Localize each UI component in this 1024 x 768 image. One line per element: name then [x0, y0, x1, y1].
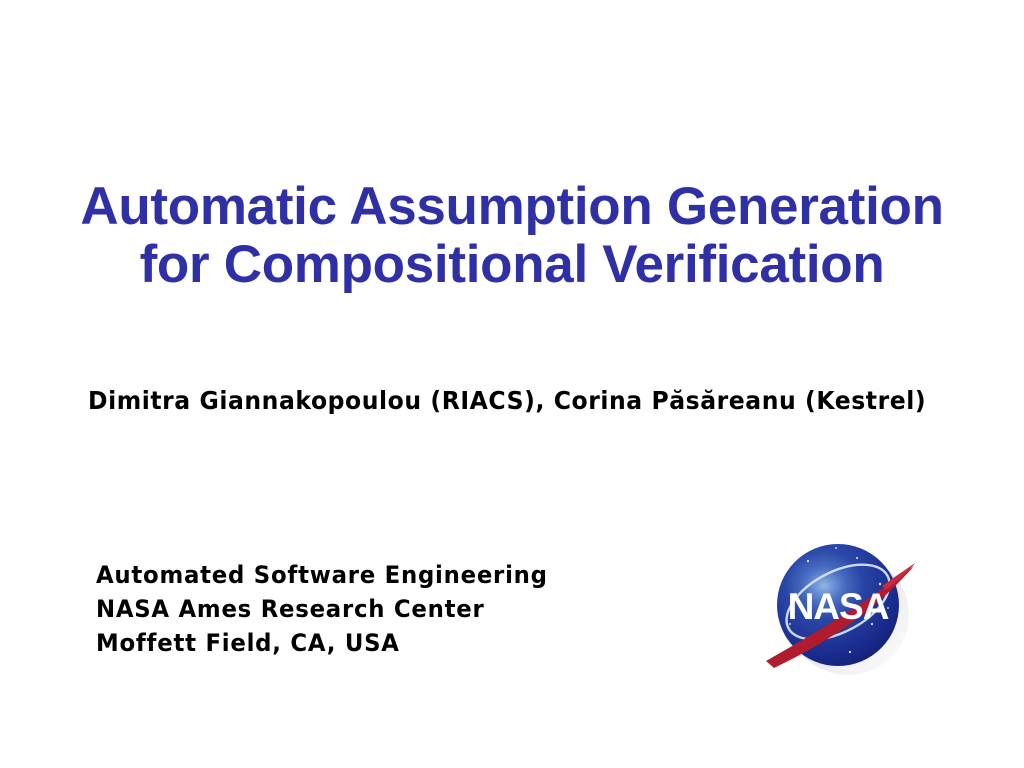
affiliation-line-1: Automated Software Engineering	[96, 558, 548, 592]
affiliation-line-3: Moffett Field, CA, USA	[96, 626, 548, 660]
affiliation-block: Automated Software Engineering NASA Ames…	[96, 558, 548, 660]
presentation-slide: Automatic Assumption Generation for Comp…	[0, 0, 1024, 768]
author-list: Dimitra Giannakopoulou (RIACS), Corina P…	[88, 385, 926, 417]
nasa-logo: NASA	[762, 528, 922, 676]
affiliation-line-2: NASA Ames Research Center	[96, 592, 548, 626]
title-line-2: for Compositional Verification	[62, 236, 962, 294]
logo-wordmark: NASA	[788, 586, 889, 627]
slide-title: Automatic Assumption Generation for Comp…	[62, 178, 962, 294]
title-line-1: Automatic Assumption Generation	[62, 178, 962, 236]
